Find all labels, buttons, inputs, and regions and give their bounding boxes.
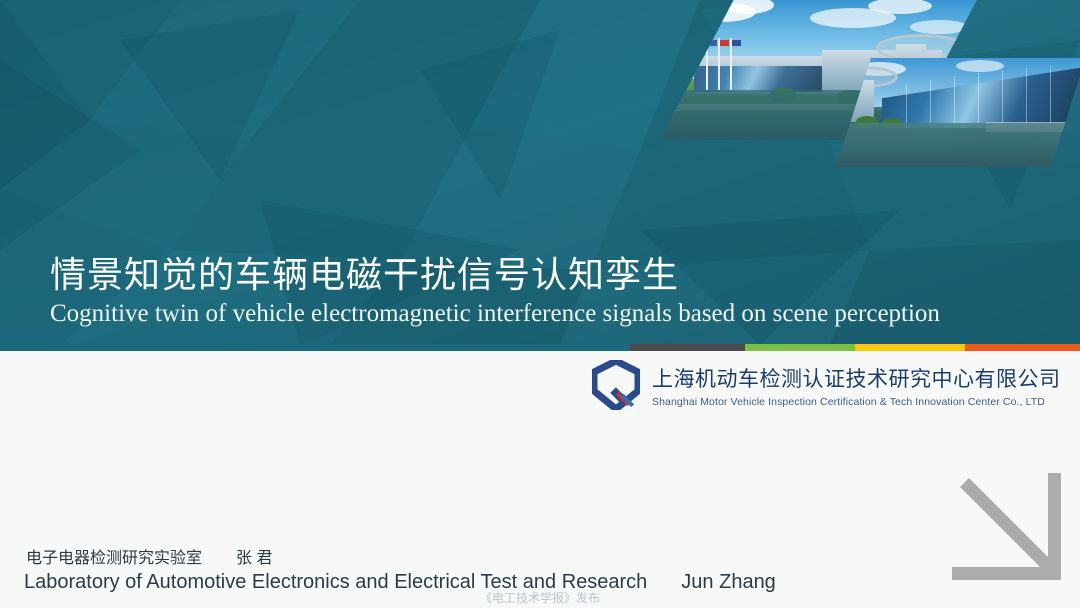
photo-building-glass <box>694 66 826 92</box>
shield-q-logo-icon <box>592 360 640 410</box>
lab-name-english: Laboratory of Automotive Electronics and… <box>24 571 647 593</box>
divider-segment-yellow <box>855 344 965 351</box>
mullion-line <box>906 84 907 128</box>
slide-title-chinese: 情景知觉的车辆电磁干扰信号认知孪生 <box>50 246 679 298</box>
slide-title-english: Cognitive twin of vehicle electromagneti… <box>50 300 940 328</box>
mullion-line <box>978 73 979 128</box>
flag-shape <box>708 40 717 46</box>
flag-shape <box>732 40 741 46</box>
mullion-line <box>954 76 955 128</box>
photo-collage <box>650 0 1080 180</box>
mullion-line <box>1002 70 1003 128</box>
author-name-chinese: 张 君 <box>236 550 272 567</box>
mullion-line <box>1050 66 1051 128</box>
author-name-english: Jun Zhang <box>681 571 776 593</box>
company-name-english: Shanghai Motor Vehicle Inspection Certif… <box>652 396 1061 408</box>
footer-chinese-line: 电子电器检测研究实验室张 君 <box>26 544 272 568</box>
divider-segment-teal <box>0 344 630 351</box>
logo-text-block: 上海机动车检测认证技术研究中心有限公司 Shanghai Motor Vehic… <box>652 363 1061 408</box>
divider-segment-gray <box>630 344 745 351</box>
lab-name-chinese: 电子电器检测研究实验室 <box>26 550 202 567</box>
glass-corridor-photo <box>836 58 1080 167</box>
flag-shape <box>720 40 729 46</box>
cloud-shape <box>910 20 968 34</box>
mullion-line <box>930 80 931 128</box>
divider-segment-orange <box>965 344 1080 351</box>
divider-segment-green <box>745 344 855 351</box>
footer-english-line: Laboratory of Automotive Electronics and… <box>24 571 776 594</box>
down-right-arrow-graphic <box>952 473 1070 595</box>
color-divider-bar <box>0 344 1080 351</box>
hero-background: 情景知觉的车辆电磁干扰信号认知孪生 Cognitive twin of vehi… <box>0 0 1080 345</box>
presentation-slide: 情景知觉的车辆电磁干扰信号认知孪生 Cognitive twin of vehi… <box>0 0 1080 608</box>
photo-reflecting-pool <box>836 123 1080 167</box>
company-name-chinese: 上海机动车检测认证技术研究中心有限公司 <box>652 363 1061 393</box>
mullion-line <box>1026 68 1027 128</box>
flag-pole <box>706 38 708 90</box>
company-logo-lockup: 上海机动车检测认证技术研究中心有限公司 Shanghai Motor Vehic… <box>592 360 1061 410</box>
cloud-shape <box>956 60 1004 72</box>
